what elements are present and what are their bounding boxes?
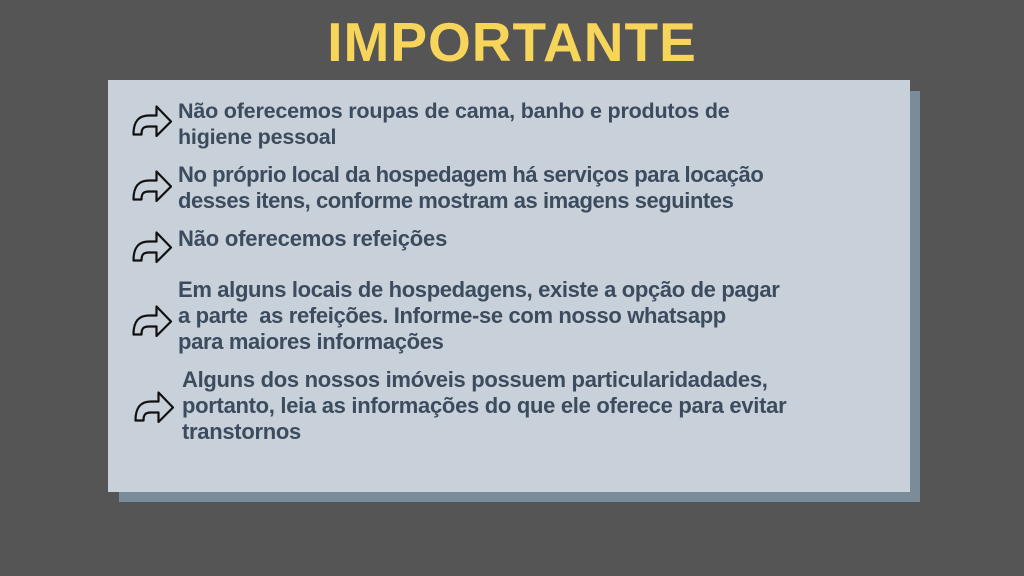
bullet-list: Não oferecemos roupas de cama, banho e p…: [108, 80, 910, 492]
list-item-label: Alguns dos nossos imóveis possuem partic…: [182, 367, 896, 445]
list-item: Em alguns locais de hospedagens, existe …: [130, 277, 896, 355]
list-item-label: No próprio local da hospedagem há serviç…: [178, 162, 896, 214]
curved-block-arrow-right-icon: [130, 162, 178, 204]
list-item: Não oferecemos roupas de cama, banho e p…: [130, 98, 896, 150]
curved-block-arrow-right-icon: [130, 367, 180, 425]
slide-canvas: IMPORTANTE Não oferecemos roupas de cama…: [0, 0, 1024, 576]
list-item-label: Em alguns locais de hospedagens, existe …: [178, 277, 896, 355]
curved-block-arrow-right-icon: [130, 277, 178, 339]
list-item-label: Não oferecemos roupas de cama, banho e p…: [178, 98, 896, 150]
curved-block-arrow-right-icon: [130, 226, 178, 265]
list-item: Não oferecemos refeições: [130, 226, 896, 265]
list-item: Alguns dos nossos imóveis possuem partic…: [130, 367, 896, 445]
list-item: No próprio local da hospedagem há serviç…: [130, 162, 896, 214]
curved-block-arrow-right-icon: [130, 98, 178, 139]
list-item-label: Não oferecemos refeições: [178, 226, 896, 252]
page-title: IMPORTANTE: [0, 12, 1024, 72]
